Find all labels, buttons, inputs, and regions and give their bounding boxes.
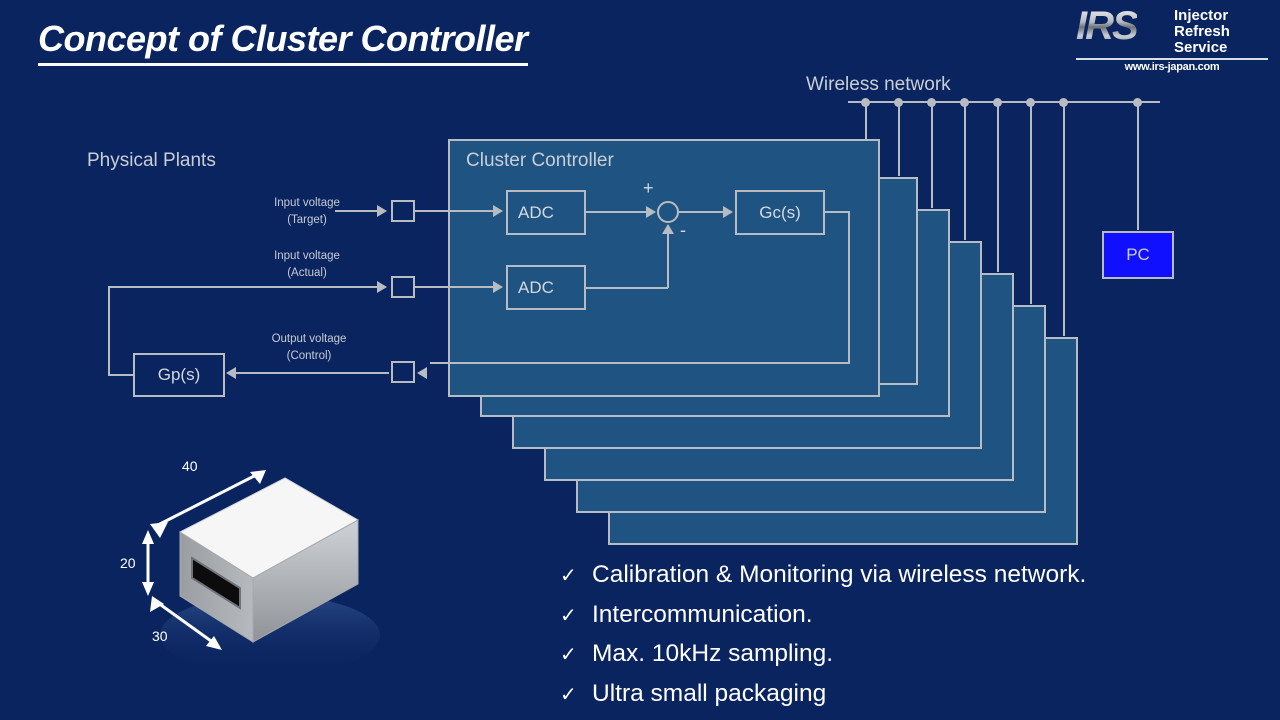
- link-port-actual-to-adc: [415, 286, 494, 288]
- signal-actual-line1: Input voltage: [233, 248, 381, 265]
- link-actual-v: [108, 286, 110, 376]
- bus-drop-2: [898, 101, 900, 176]
- link-port-target-to-adc: [415, 210, 494, 212]
- dimension-label-depth: 30: [152, 628, 168, 644]
- list-item-label: Calibration & Monitoring via wireless ne…: [592, 556, 1086, 595]
- arrowhead-icon: [646, 206, 656, 218]
- check-icon: ✓: [560, 557, 592, 596]
- dimension-label-height: 20: [120, 555, 136, 571]
- minus-sign: -: [680, 220, 686, 241]
- bus-dot: [960, 98, 969, 107]
- link-adc-top-to-sum: [586, 211, 648, 213]
- pc-label: PC: [1126, 245, 1150, 265]
- list-item: ✓ Calibration & Monitoring via wireless …: [560, 556, 1260, 596]
- list-item-label: Ultra small packaging: [592, 675, 826, 714]
- irs-logo: IRS Injector Refresh Service www.irs-jap…: [1074, 6, 1270, 70]
- list-item: ✓ Intercommunication.: [560, 596, 1260, 636]
- controller-label: Gc(s): [759, 203, 801, 223]
- plant-block[interactable]: Gp(s): [133, 353, 225, 397]
- bus-dot: [1026, 98, 1035, 107]
- check-icon: ✓: [560, 676, 592, 715]
- link-control-to-plant: [236, 372, 389, 374]
- logo-line-3: Service: [1174, 40, 1227, 55]
- bus-dot: [1059, 98, 1068, 107]
- list-item-label: Max. 10kHz sampling.: [592, 635, 833, 674]
- logo-mark: IRS: [1076, 6, 1137, 47]
- link-target-in: [335, 210, 379, 212]
- arrowhead-icon: [493, 281, 503, 293]
- bus-dot: [927, 98, 936, 107]
- adc-bottom-label: ADC: [518, 278, 554, 298]
- signal-control-line1: Output voltage: [235, 331, 383, 348]
- link-actual-h: [108, 286, 379, 288]
- adc-top-block[interactable]: ADC: [506, 190, 586, 235]
- arrowhead-icon: [377, 205, 387, 217]
- arrowhead-icon: [723, 206, 733, 218]
- page-title: Concept of Cluster Controller: [38, 18, 528, 66]
- signal-target-line2: (Target): [233, 212, 381, 229]
- device-3d-render: 40 20 30: [110, 450, 410, 685]
- logo-line-2: Refresh: [1174, 24, 1230, 39]
- signal-label-control: Output voltage (Control): [235, 331, 383, 364]
- physical-plants-label: Physical Plants: [87, 150, 216, 172]
- logo-url: www.irs-japan.com: [1076, 58, 1268, 73]
- bus-drop-4: [964, 101, 966, 240]
- port-actual[interactable]: [391, 276, 415, 298]
- feature-list: ✓ Calibration & Monitoring via wireless …: [560, 556, 1260, 714]
- plus-sign: +: [643, 178, 654, 199]
- arrowhead-icon: [226, 367, 236, 379]
- link-adc-bottom-h: [586, 287, 668, 289]
- signal-actual-line2: (Actual): [233, 265, 381, 282]
- check-icon: ✓: [560, 597, 592, 636]
- summing-junction: [657, 201, 679, 223]
- link-controller-out-v: [848, 211, 850, 363]
- list-item: ✓ Max. 10kHz sampling.: [560, 635, 1260, 675]
- logo-line-1: Injector: [1174, 8, 1228, 23]
- link-controller-out-h: [825, 211, 850, 213]
- slide-canvas: Concept of Cluster Controller IRS Inject…: [0, 0, 1280, 720]
- adc-bottom-block[interactable]: ADC: [506, 265, 586, 310]
- bus-dot: [993, 98, 1002, 107]
- link-adc-bottom-v: [667, 234, 669, 288]
- link-actual-to-plant: [108, 374, 135, 376]
- controller-block[interactable]: Gc(s): [735, 190, 825, 235]
- adc-top-label: ADC: [518, 203, 554, 223]
- pc-box[interactable]: PC: [1102, 231, 1174, 279]
- port-target[interactable]: [391, 200, 415, 222]
- dimension-label-width: 40: [182, 458, 198, 474]
- bus-drop-3: [931, 101, 933, 208]
- list-item: ✓ Ultra small packaging: [560, 675, 1260, 715]
- device-svg: [110, 450, 410, 685]
- arrowhead-icon: [377, 281, 387, 293]
- arrowhead-icon: [417, 367, 427, 379]
- arrowhead-icon: [493, 205, 503, 217]
- bus-dot: [894, 98, 903, 107]
- bus-dot: [1133, 98, 1142, 107]
- list-item-label: Intercommunication.: [592, 596, 813, 635]
- plant-label: Gp(s): [158, 365, 201, 385]
- signal-control-line2: (Control): [235, 348, 383, 365]
- wireless-network-label: Wireless network: [806, 74, 951, 96]
- bus-drop-7: [1063, 101, 1065, 336]
- bus-drop-5: [997, 101, 999, 272]
- cluster-controller-label: Cluster Controller: [466, 150, 614, 172]
- bus-dot: [861, 98, 870, 107]
- bus-drop-6: [1030, 101, 1032, 304]
- bus-drop-pc: [1137, 101, 1139, 230]
- port-control[interactable]: [391, 361, 415, 383]
- link-sum-to-controller: [679, 211, 725, 213]
- link-controller-to-output: [430, 362, 850, 364]
- check-icon: ✓: [560, 636, 592, 675]
- arrowhead-icon: [662, 224, 674, 234]
- signal-label-actual: Input voltage (Actual): [233, 248, 381, 281]
